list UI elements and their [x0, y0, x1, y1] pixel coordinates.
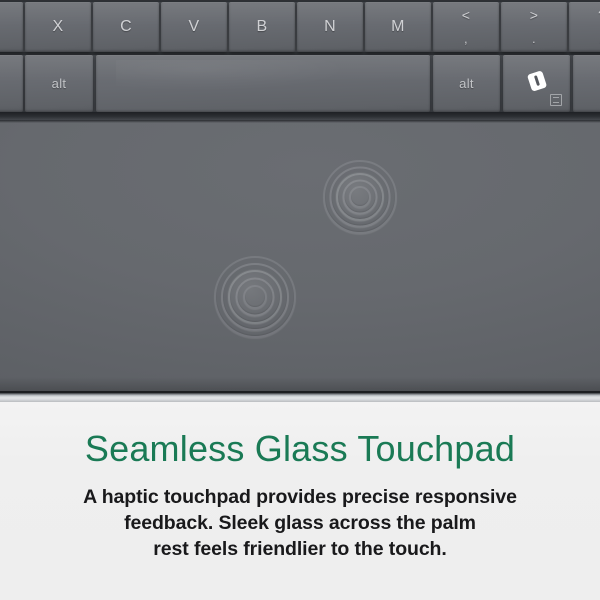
key-gloss: [569, 2, 600, 25]
ripple-ring-2: [221, 263, 289, 331]
caption-body: A haptic touchpad provides precise respo…: [45, 485, 555, 563]
ripple-ring-2: [330, 167, 391, 228]
glass-touchpad-surface[interactable]: [0, 120, 600, 393]
context-menu-icon: [550, 94, 562, 106]
chassis-edge-seam: [0, 391, 600, 402]
page-title: Seamless Glass Touchpad: [0, 430, 600, 468]
key-label-period: .: [532, 32, 536, 45]
ripple-core-glow: [227, 269, 283, 325]
key-period[interactable]: > .: [501, 2, 567, 52]
key-partial-left-lower[interactable]: [0, 55, 23, 112]
ripple-ring-5: [243, 285, 267, 309]
key-label-n: N: [324, 18, 336, 36]
ripple-ring-3: [336, 173, 384, 221]
ripple-core-glow: [335, 172, 385, 222]
key-logo[interactable]: [503, 55, 570, 112]
key-partial-left[interactable]: [0, 2, 23, 52]
touch-ripple-upper: [324, 161, 396, 233]
key-x[interactable]: X: [25, 2, 91, 52]
key-b[interactable]: B: [229, 2, 295, 52]
key-gloss: [96, 55, 430, 81]
key-label-x: X: [53, 18, 64, 36]
caption-panel: Seamless Glass Touchpad A haptic touchpa…: [0, 402, 600, 600]
key-n[interactable]: N: [297, 2, 363, 52]
key-alt-left[interactable]: alt: [25, 55, 93, 112]
key-c[interactable]: C: [93, 2, 159, 52]
touch-ripple-lower: [215, 257, 295, 337]
key-m[interactable]: M: [365, 2, 431, 52]
ripple-ring-1: [323, 160, 397, 234]
keyboard-deck: X C V B N M < , > .: [0, 0, 600, 120]
key-label-less-than: <: [462, 8, 470, 22]
ripple-ring-1: [214, 256, 296, 338]
ripple-ring-5: [349, 186, 371, 208]
key-spacebar[interactable]: [96, 55, 430, 112]
caption-line-1: A haptic touchpad provides precise respo…: [45, 485, 555, 511]
caption-line-2: feedback. Sleek glass across the palm: [45, 511, 555, 537]
ripple-ring-3: [228, 270, 282, 324]
key-label-m: M: [391, 18, 405, 36]
key-label-greater-than: >: [530, 8, 538, 22]
key-gloss: [0, 2, 23, 25]
key-gloss: [0, 55, 23, 81]
key-label-alt-left: alt: [52, 76, 67, 91]
key-slash[interactable]: ? /: [569, 2, 600, 52]
copilot-logo-icon: [524, 68, 550, 94]
keyboard-bottom-bezel: [0, 112, 600, 120]
caption-line-3: rest feels friendlier to the touch.: [45, 537, 555, 563]
key-alt-right[interactable]: alt: [433, 55, 500, 112]
key-v[interactable]: V: [161, 2, 227, 52]
key-gloss: [573, 55, 600, 81]
product-feature-card: X C V B N M < , > .: [0, 0, 600, 600]
key-partial-right-lower[interactable]: [573, 55, 600, 112]
key-label-b: B: [257, 18, 268, 36]
ripple-ring-4: [236, 278, 275, 317]
key-comma[interactable]: < ,: [433, 2, 499, 52]
key-label-v: V: [189, 18, 200, 36]
key-label-c: C: [120, 18, 132, 36]
key-label-comma: ,: [464, 32, 468, 45]
ripple-ring-4: [343, 180, 378, 215]
key-label-alt-right: alt: [459, 76, 474, 91]
